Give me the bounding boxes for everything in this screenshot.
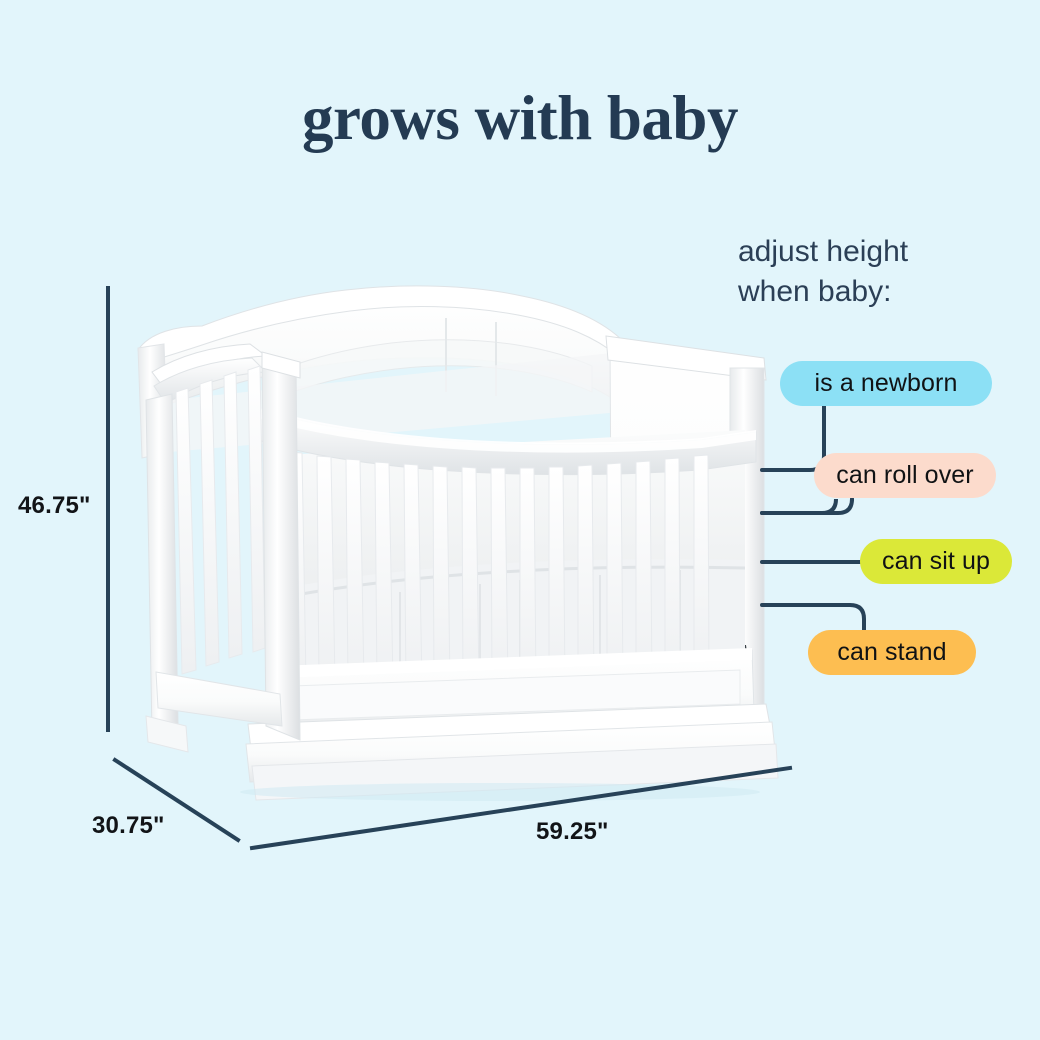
dimension-line-width: [252, 768, 790, 848]
dimension-lines: [0, 0, 1040, 1040]
dimension-line-depth: [115, 760, 238, 840]
infographic-canvas: grows with baby: [0, 0, 1040, 1040]
